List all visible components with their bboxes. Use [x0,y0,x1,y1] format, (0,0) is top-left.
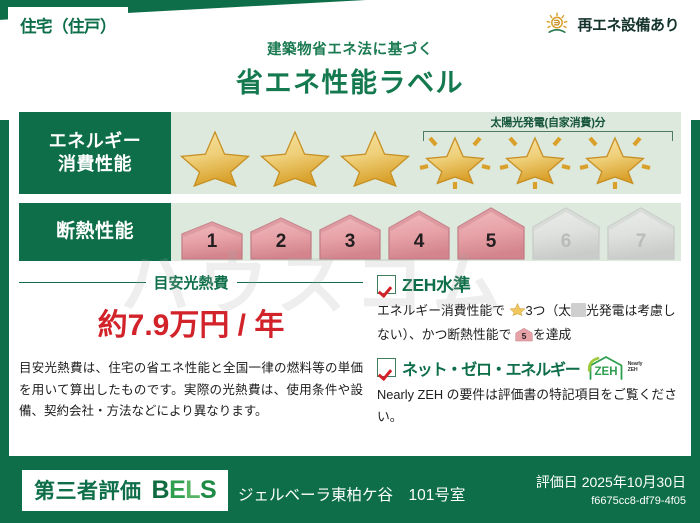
inline-star-icon [509,301,526,324]
energy-performance-label-key: エネルギー 消費性能 [19,112,171,194]
energy-label-line1: エネルギー [49,130,142,153]
house-icon-level-7: 7 [605,206,677,260]
zeh-standard-title: ZEH水準 [402,272,471,297]
house-level-number: 1 [179,231,245,253]
check-icon [377,275,396,294]
renewable-energy-badge: 再エネ設備あり [536,8,690,40]
building-name: ジェルベーラ東柏ケ谷 101号室 [238,483,465,505]
details-section: 目安光熱費 約7.9万円 / 年 目安光熱費は、住宅の省エネ性能と全国一律の燃料… [19,272,681,433]
bels-letter-l: L [185,476,200,504]
insulation-level-scale: 1 2 3 [179,206,677,260]
zeh-column: ZEH水準 エネルギー消費性能で 3つ（太光発電は考慮しない）、かつ断熱性能で [363,272,681,433]
energy-label-line2: 消費性能 [58,153,132,176]
house-level-number: 5 [455,231,527,253]
house-icon-level-5: 5 [455,206,527,260]
house-icon-level-2: 2 [248,216,314,260]
zeh-body-part1: エネルギー消費性能で [377,303,505,318]
house-level-number: 4 [386,231,452,253]
evaluation-date-label: 評価日 [536,474,578,490]
evaluation-date: 評価日 2025年10月30日 [536,472,686,492]
energy-cost-disclaimer: 目安光熱費は、住宅の省エネ性能と全国一律の燃料等の単価を用いて算出したものです。… [19,358,363,423]
insulation-performance-label-key: 断熱性能 [19,203,171,261]
main-panel: エネルギー 消費性能 太陽光発電(自家消費)分 [9,104,691,456]
insulation-performance-value: 1 2 3 [171,203,681,261]
zeh-standard-body: エネルギー消費性能で 3つ（太光発電は考慮しない）、かつ断熱性能で 5 を達成 [377,300,681,348]
third-party-label: 第三者評価 [34,475,142,505]
star-solar-icon [417,126,493,192]
footer: 第三者評価 BELS ジェルベーラ東柏ケ谷 101号室 評価日 2025年10月… [0,456,700,523]
zeh-body-part2: 3つ（太 [526,303,572,318]
inline-house-level-icon: 5 [515,327,533,348]
star-icon [257,126,333,192]
obscured-text-mask [571,303,586,317]
bels-letter-b: B [152,476,170,504]
svg-text:5: 5 [522,331,527,341]
category-tag: 住宅（住戸） [9,8,127,43]
star-solar-icon [497,126,573,192]
bels-certification-plate: 第三者評価 BELS [22,470,228,511]
check-icon [377,358,396,377]
star-icon [177,126,253,192]
house-level-number: 6 [530,231,602,253]
house-icon-level-6: 6 [530,206,602,260]
insulation-performance-row: 断熱性能 [19,203,681,261]
svg-text:ZEH: ZEH [594,366,617,378]
energy-cost-heading: 目安光熱費 [19,272,363,293]
house-level-number: 7 [605,231,677,253]
zeh-logo-subtext: Nearly ZEH [628,362,643,374]
energy-cost-amount: 約7.9万円 / 年 [19,300,363,344]
star-solar-icon [577,126,653,192]
solar-sun-icon [544,12,570,36]
zeh-standard-block: ZEH水準 エネルギー消費性能で 3つ（太光発電は考慮しない）、かつ断熱性能で [377,272,681,348]
zeh-logo: ZEH Nearly ZEH [586,354,643,381]
house-level-number: 2 [248,231,314,253]
energy-performance-label: 住宅（住戸） 再エネ設備あり 建築物省エネ法に基づく [0,0,700,523]
evaluation-date-value: 2025年10月30日 [582,474,686,490]
net-zero-energy-heading: ネット・ゼロ・エネルギー ZEH Nearly ZEH [377,354,681,381]
energy-cost-heading-label: 目安光熱費 [154,272,229,293]
bels-logo: BELS [152,476,217,505]
label-title: 建築物省エネ法に基づく 省エネ性能ラベル [0,38,700,100]
energy-cost-column: 目安光熱費 約7.9万円 / 年 目安光熱費は、住宅の省エネ性能と全国一律の燃料… [19,272,363,433]
bels-letter-s: S [200,476,216,504]
house-icon-level-3: 3 [317,213,383,260]
house-icon-level-4: 4 [386,209,452,260]
energy-performance-value: 太陽光発電(自家消費)分 [171,112,681,194]
zeh-body-part4: を達成 [533,327,571,342]
star-icon [337,126,413,192]
renewable-badge-label: 再エネ設備あり [577,14,679,35]
net-zero-energy-body: Nearly ZEH の要件は評価書の特記項目をご覧ください。 [377,384,681,426]
title-main: 省エネ性能ラベル [0,61,700,100]
evaluation-info: 評価日 2025年10月30日 f6675cc8-df79-4f05 [536,472,686,507]
energy-performance-row: エネルギー 消費性能 太陽光発電(自家消費)分 [19,112,681,194]
net-zero-energy-block: ネット・ゼロ・エネルギー ZEH Nearly ZEH [377,354,681,426]
net-zero-energy-title: ネット・ゼロ・エネルギー [402,356,580,380]
evaluation-id: f6675cc8-df79-4f05 [536,495,686,507]
zeh-standard-heading: ZEH水準 [377,272,681,297]
energy-star-rating [177,126,653,192]
bels-letter-e: E [169,476,185,504]
zeh-logo-zeh: ZEH [628,368,643,374]
house-level-number: 3 [317,231,383,253]
house-icon-level-1: 1 [179,220,245,260]
